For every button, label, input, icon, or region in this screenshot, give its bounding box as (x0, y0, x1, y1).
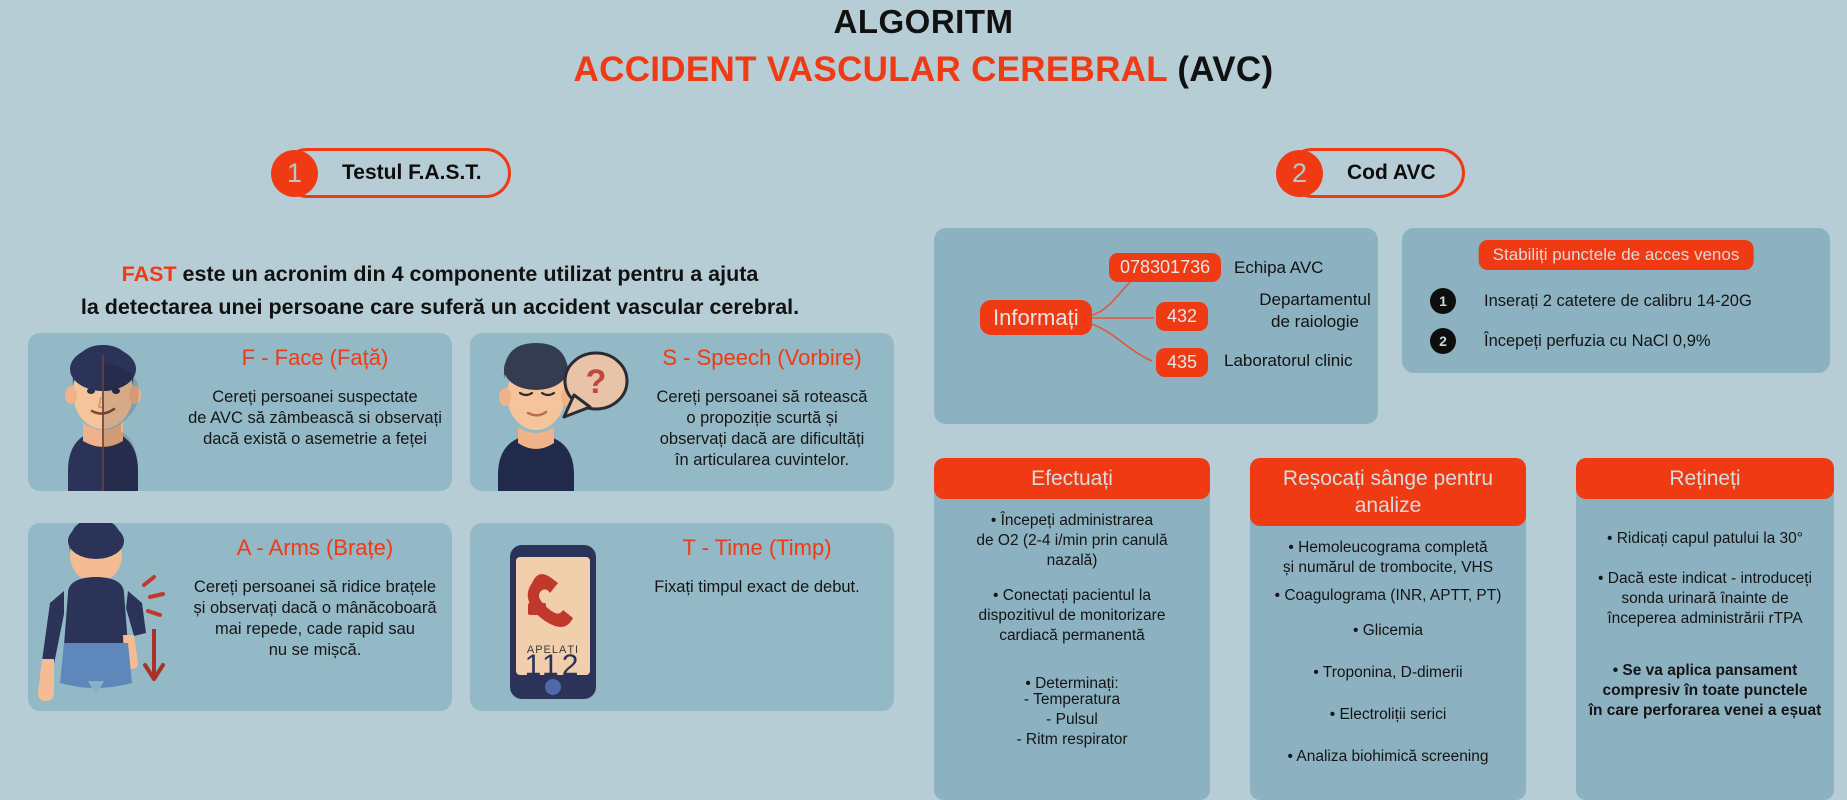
svg-text:112: 112 (525, 649, 582, 682)
venous-item-0: 1 Inserați 2 catetere de calibru 14-20G (1430, 288, 1752, 314)
fast-card-arms[interactable]: A - Arms (Brațe) Cereți persoanei să rid… (28, 523, 452, 711)
step-number-badge-1: 1 (271, 150, 318, 197)
list-item: • Se va aplica pansament compresiv în to… (1586, 661, 1824, 721)
fast-card-arms-text: Cereți persoanei să ridice brațele și ob… (178, 577, 452, 661)
phones-hub-label[interactable]: Informați (980, 300, 1092, 335)
fast-card-face-body: F - Face (Față) Cereți persoanei suspect… (178, 333, 452, 450)
venous-text-0: Inserați 2 catetere de calibru 14-20G (1484, 292, 1752, 311)
fast-card-arms-title: A - Arms (Brațe) (178, 533, 452, 563)
column-retineti-heading: Rețineți (1576, 458, 1834, 499)
title-line-algoritm: ALGORITM (0, 2, 1847, 42)
column-efectuati: Efectuați • Începeți administrarea de O2… (934, 458, 1210, 800)
venous-text-1: Începeți perfuzia cu NaCl 0,9% (1484, 332, 1711, 351)
fast-card-face-title: F - Face (Față) (178, 343, 452, 373)
svg-text:?: ? (586, 363, 607, 401)
fast-card-speech-body: S - Speech (Vorbire) Cereți persoanei să… (630, 333, 894, 471)
list-item: • Troponina, D-dimerii (1260, 663, 1516, 683)
fast-card-speech-title: S - Speech (Vorbire) (630, 343, 894, 373)
page-title: ALGORITM ACCIDENT VASCULAR CEREBRAL (AVC… (0, 0, 1847, 101)
title-main-text: ACCIDENT VASCULAR CEREBRAL (574, 50, 1168, 89)
list-item: • Dacă este indicat - introduceți sonda … (1586, 569, 1824, 629)
panel-contact-numbers: Informați 078301736 432 435 Echipa AVC D… (934, 228, 1378, 424)
speech-bubble-portrait-icon: ? (470, 333, 630, 496)
phone-label-1: Departamentul de raiologie (1230, 289, 1400, 333)
step-number-badge-2: 2 (1276, 150, 1323, 197)
fast-card-time-title: T - Time (Timp) (620, 533, 894, 563)
phone-number-tag-2[interactable]: 435 (1156, 348, 1208, 377)
face-half-portrait-icon (28, 333, 178, 496)
phone-number-tag-1[interactable]: 432 (1156, 302, 1208, 331)
list-item: • Începeți administrarea de O2 (2-4 i/mi… (944, 511, 1200, 571)
venous-badge-1: 1 (1430, 288, 1456, 314)
column-retineti: Rețineți • Ridicați capul patului la 30°… (1576, 458, 1834, 800)
column-retineti-body: • Ridicați capul patului la 30° • Dacă e… (1576, 499, 1834, 721)
fast-intro-line-2: la detectarea unei persoane care suferă … (0, 291, 880, 324)
fast-intro: FAST este un acronim din 4 componente ut… (0, 258, 880, 324)
fast-intro-text-1: este un acronim din 4 componente utiliza… (177, 262, 759, 286)
list-item: • Ridicați capul patului la 30° (1586, 529, 1824, 549)
step-pill-fast-test[interactable]: 1 Testul F.A.S.T. (282, 148, 511, 198)
list-item: • Glicemia (1260, 621, 1516, 641)
title-line-avc: ACCIDENT VASCULAR CEREBRAL (AVC) (0, 46, 1847, 101)
phone-number-tag-0[interactable]: 078301736 (1109, 253, 1221, 282)
arm-drop-figure-icon (28, 523, 178, 716)
list-item: • Analiza biohimică screening (1260, 747, 1516, 767)
venous-badge-2: 2 (1430, 328, 1456, 354)
list-item: - Temperatura - Pulsul - Ritm respirator (944, 690, 1200, 750)
fast-card-arms-body: A - Arms (Brațe) Cereți persoanei să rid… (178, 523, 452, 661)
phone-label-0: Echipa AVC (1234, 257, 1394, 279)
fast-card-face-text: Cereți persoanei suspectate de AVC să zâ… (178, 387, 452, 450)
column-resocati-sange-body: • Hemoleucograma completă și numărul de … (1250, 526, 1526, 767)
fast-card-time[interactable]: APELAȚI 112 T - Time (Timp) Fixați timpu… (470, 523, 894, 711)
fast-acronym: FAST (122, 262, 177, 286)
fast-card-speech[interactable]: ? S - Speech (Vorbire) Cereți persoanei … (470, 333, 894, 491)
column-resocati-sange-heading: Reșocați sânge pentru analize (1250, 458, 1526, 526)
step-label-fast-test: Testul F.A.S.T. (342, 161, 482, 185)
venous-item-1: 2 Începeți perfuzia cu NaCl 0,9% (1430, 328, 1711, 354)
fast-card-time-body: T - Time (Timp) Fixați timpul exact de d… (620, 523, 894, 598)
list-item: • Coagulograma (INR, APTT, PT) (1260, 586, 1516, 606)
list-item: • Conectați pacientul la dispozitivul de… (944, 586, 1200, 646)
phone-label-2: Laboratorul clinic (1224, 350, 1404, 372)
fast-intro-line-1: FAST este un acronim din 4 componente ut… (0, 258, 880, 291)
column-efectuati-heading: Efectuați (934, 458, 1210, 499)
phone-112-icon: APELAȚI 112 (470, 523, 620, 716)
step-label-cod-avc: Cod AVC (1347, 161, 1436, 185)
column-resocati-sange: Reșocați sânge pentru analize • Hemoleuc… (1250, 458, 1526, 800)
fast-card-speech-text: Cereți persoanei să rotească o propoziți… (630, 387, 894, 471)
step-pill-cod-avc[interactable]: 2 Cod AVC (1287, 148, 1465, 198)
list-item: • Electroliții serici (1260, 705, 1516, 725)
title-abbreviation: (AVC) (1167, 50, 1273, 89)
panel-venous-access: Stabiliți punctele de acces venos 1 Inse… (1402, 228, 1830, 373)
column-efectuati-body: • Începeți administrarea de O2 (2-4 i/mi… (934, 499, 1210, 750)
list-item: • Hemoleucograma completă și numărul de … (1260, 538, 1516, 578)
fast-card-face[interactable]: F - Face (Față) Cereți persoanei suspect… (28, 333, 452, 491)
fast-card-time-text: Fixați timpul exact de debut. (620, 577, 894, 598)
venous-access-heading: Stabiliți punctele de acces venos (1479, 240, 1754, 270)
